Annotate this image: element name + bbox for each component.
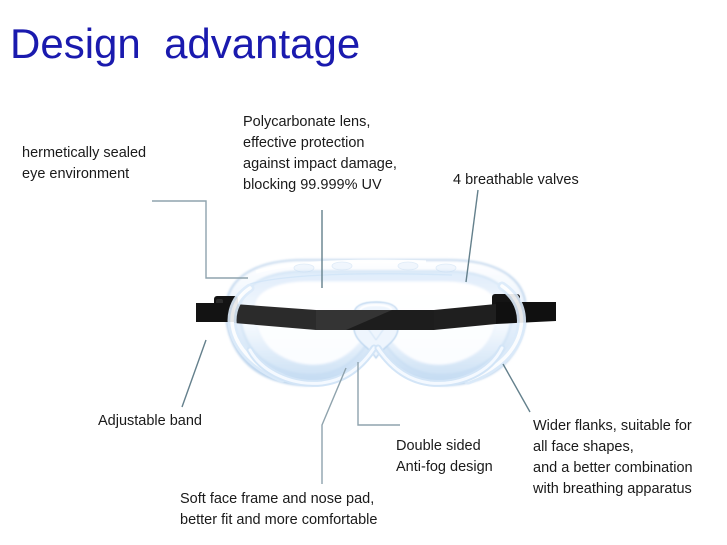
callout-breathable-valves: 4 breathable valves [453,170,579,191]
safety-goggles-illustration [196,248,556,408]
callout-wider-flanks: Wider flanks, suitable for all face shap… [533,416,693,500]
callout-adjustable-band: Adjustable band [98,411,202,432]
page-title: Design advantage [10,18,360,70]
callout-hermetically-sealed: hermetically sealed eye environment [22,143,146,185]
callout-soft-face-frame: Soft face frame and nose pad, better fit… [180,489,377,531]
callout-anti-fog-design: Double sided Anti-fog design [396,436,493,478]
infographic-page: Design advantage [0,0,727,545]
callout-polycarbonate-lens: Polycarbonate lens, effective protection… [243,112,397,196]
